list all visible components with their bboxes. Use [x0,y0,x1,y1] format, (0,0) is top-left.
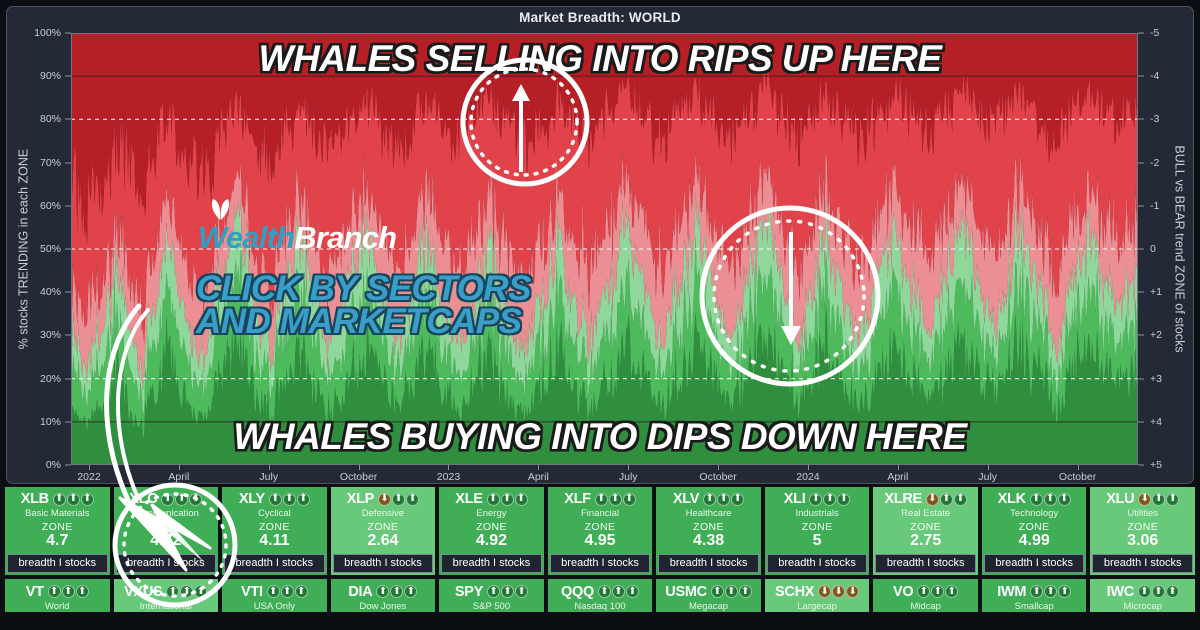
card-marketcap-name: S&P 500 [473,601,510,612]
card-ticker: USMC [665,584,707,600]
arrow-up-icon: ⬆ [48,585,61,598]
ticker-cards: XLB⬆⬆⬆Basic MaterialsZONE4.7breadth I st… [0,487,1200,616]
arrow-up-icon: ⬆ [725,585,738,598]
arrow-up-icon: ⬆ [53,493,66,506]
card-header: XLF⬆⬆⬆ [564,491,636,507]
arrow-up-icon: ⬆ [931,585,944,598]
y-axis-right-tickmark [1138,76,1144,77]
trend-arrows: ⬆⬆⬆ [487,493,528,506]
arrow-down-icon: ⬇ [926,493,939,506]
card-header: XLY⬆⬆⬆ [239,491,310,507]
x-axis-tickmark [448,465,449,470]
card-sector-name: Defensive [362,508,404,519]
sector-card-xly[interactable]: XLY⬆⬆⬆CyclicalZONE4.11breadth I stocks [221,487,328,575]
sector-card-xlb[interactable]: XLB⬆⬆⬆Basic MaterialsZONE4.7breadth I st… [4,487,111,575]
y-axis-right-tick-label: +3 [1150,373,1162,385]
y-axis-left-tick-label: 20% [40,373,61,385]
sector-card-xlc[interactable]: XLC⬆⬆⬆CommunicationZONE4.72breadth I sto… [113,487,220,575]
arrow-up-icon: ⬆ [1058,585,1071,598]
arrow-up-icon: ⬆ [1044,493,1057,506]
card-zone-value: 3.06 [1127,533,1158,550]
x-axis-tick-label: April [168,471,189,483]
card-zone-value: 4.38 [693,533,724,550]
market-breadth-dashboard: Market Breadth: WORLD % stocks TRENDING … [0,0,1200,630]
arrow-up-icon: ⬆ [626,585,639,598]
x-axis-tick-label: July [619,471,638,483]
card-ticker: VXUS [124,584,162,600]
card-zone-value: 4.99 [1019,533,1050,550]
chart-panel: Market Breadth: WORLD % stocks TRENDING … [6,6,1194,484]
x-axis-tickmark [718,465,719,470]
sector-card-xlf[interactable]: XLF⬆⬆⬆FinancialZONE4.95breadth I stocks [547,487,654,575]
card-ticker: XLU [1106,491,1134,507]
card-header: XLI⬆⬆⬆ [784,491,851,507]
card-header: VO⬆⬆⬆ [893,584,958,600]
x-axis-tickmark [808,465,809,470]
marketcap-card-spy[interactable]: SPY⬆⬆⬆S&P 500 [438,579,545,612]
card-ticker: XLB [21,491,49,507]
arrow-up-icon: ⬆ [281,585,294,598]
arrow-up-icon: ⬆ [515,493,528,506]
x-axis: 2022AprilJulyOctober2023AprilJulyOctober… [71,465,1138,484]
arrow-up-icon: ⬆ [609,493,622,506]
y-axis-right-tick-label: +2 [1150,329,1162,341]
arrow-up-icon: ⬆ [81,493,94,506]
card-ticker: IWC [1107,584,1134,600]
trend-arrows: ⬆⬆⬆ [595,493,636,506]
trend-arrows: ⬆⬆⬆ [703,493,744,506]
sector-card-xlre[interactable]: XLRE⬇⬆⬆Real EstateZONE2.75breadth I stoc… [872,487,979,575]
arrow-up-icon: ⬆ [515,585,528,598]
trend-arrows: ⬆⬆⬆ [1138,585,1179,598]
card-marketcap-name: International [140,601,192,612]
arrow-down-icon: ⬇ [832,585,845,598]
x-axis-tick-label: October [340,471,377,483]
arrow-up-icon: ⬆ [598,585,611,598]
card-marketcap-name: Dow Jones [359,601,406,612]
card-zone-value: 4.72 [150,533,181,550]
card-sector-name: Technology [1010,508,1058,519]
card-breadth-stocks-button[interactable]: breadth I stocks [984,554,1085,573]
card-zone-value: 4.11 [259,533,289,550]
card-zone-value: 5 [813,533,822,550]
x-axis-tickmark [538,465,539,470]
sector-card-row: XLB⬆⬆⬆Basic MaterialsZONE4.7breadth I st… [0,487,1200,575]
breadth-area-chart [71,33,1138,465]
x-axis-tickmark [988,465,989,470]
arrow-up-icon: ⬆ [1030,585,1043,598]
x-axis-tick-label: July [978,471,997,483]
card-header: XLE⬆⬆⬆ [455,491,527,507]
marketcap-card-vo[interactable]: VO⬆⬆⬆Midcap [872,579,979,612]
arrow-up-icon: ⬆ [717,493,730,506]
arrow-up-icon: ⬆ [623,493,636,506]
arrow-up-icon: ⬆ [175,493,188,506]
marketcap-card-vxus[interactable]: VXUS⬆⬆⬆International [113,579,220,612]
card-header: IWM⬆⬆⬆ [997,584,1071,600]
trend-arrows: ⬆⬆⬆ [1030,585,1071,598]
arrow-up-icon: ⬆ [1044,585,1057,598]
arrow-up-icon: ⬆ [180,585,193,598]
card-header: SPY⬆⬆⬆ [455,584,528,600]
arrow-up-icon: ⬆ [917,585,930,598]
card-sector-name: Financial [581,508,619,519]
card-sector-name: Utilities [1127,508,1158,519]
card-marketcap-name: Megacap [689,601,728,612]
trend-arrows: ⬆⬆⬆ [53,493,94,506]
card-breadth-stocks-button[interactable]: breadth I stocks [224,554,325,573]
x-axis-tickmark [1078,465,1079,470]
arrow-up-icon: ⬆ [501,493,514,506]
card-marketcap-name: Nasdaq 100 [574,601,625,612]
y-axis-right-tick-label: +4 [1150,416,1162,428]
x-axis-tickmark [359,465,360,470]
arrow-up-icon: ⬆ [283,493,296,506]
arrow-up-icon: ⬆ [1166,493,1179,506]
card-marketcap-name: USA Only [254,601,295,612]
card-header: VXUS⬆⬆⬆ [124,584,207,600]
arrow-up-icon: ⬆ [823,493,836,506]
card-breadth-stocks-button[interactable]: breadth I stocks [550,554,651,573]
arrow-up-icon: ⬆ [487,585,500,598]
arrow-up-icon: ⬆ [1152,585,1165,598]
arrow-up-icon: ⬆ [62,585,75,598]
arrow-up-icon: ⬆ [161,493,174,506]
arrow-up-icon: ⬆ [501,585,514,598]
card-sector-name: Basic Materials [25,508,89,519]
card-marketcap-name: Largecap [797,601,837,612]
sector-card-xlu[interactable]: XLU⬇⬆⬆UtilitiesZONE3.06breadth I stocks [1089,487,1196,575]
card-marketcap-name: Midcap [910,601,941,612]
arrow-up-icon: ⬆ [954,493,967,506]
arrow-up-icon: ⬆ [837,493,850,506]
x-axis-tick-label: October [699,471,736,483]
y-axis-right-tick-label: 0 [1150,243,1156,255]
y-axis-right-tick-label: -5 [1150,27,1159,39]
marketcap-card-dia[interactable]: DIA⬆⬆⬆Dow Jones [330,579,437,612]
x-axis-tick-label: 2022 [77,471,100,483]
card-sector-name: Energy [476,508,506,519]
trend-arrows: ⬆⬆⬆ [48,585,89,598]
y-axis-right-tickmark [1138,465,1144,466]
card-ticker: IWM [997,584,1026,600]
arrow-up-icon: ⬆ [390,585,403,598]
card-header: XLB⬆⬆⬆ [21,491,94,507]
y-axis-right-tickmark [1138,205,1144,206]
card-marketcap-name: Smallcap [1015,601,1054,612]
arrow-up-icon: ⬆ [940,493,953,506]
x-axis-tickmark [628,465,629,470]
card-header: XLRE⬇⬆⬆ [884,491,966,507]
arrow-up-icon: ⬆ [194,585,207,598]
arrow-down-icon: ⬇ [818,585,831,598]
sector-card-xlv[interactable]: XLV⬆⬆⬆HealthcareZONE4.38breadth I stocks [655,487,762,575]
y-axis-right-tick-label: -3 [1150,113,1159,125]
x-axis-tickmark [179,465,180,470]
marketcap-card-schx[interactable]: SCHX⬇⬇⬇Largecap [764,579,871,612]
arrow-up-icon: ⬆ [612,585,625,598]
trend-arrows: ⬇⬆⬆ [1138,493,1179,506]
x-axis-tickmark [898,465,899,470]
y-axis-left-tick-label: 30% [40,329,61,341]
y-axis-left-tick-label: 40% [40,286,61,298]
card-marketcap-name: World [45,601,70,612]
card-breadth-stocks-button[interactable]: breadth I stocks [1092,554,1193,573]
card-ticker: QQQ [561,584,594,600]
card-header: VT⬆⬆⬆ [26,584,89,600]
card-breadth-stocks-button[interactable]: breadth I stocks [658,554,759,573]
arrow-up-icon: ⬆ [731,493,744,506]
card-breadth-stocks-button[interactable]: breadth I stocks [116,554,217,573]
card-header: XLP⬇⬆⬆ [347,491,419,507]
marketcap-card-iwc[interactable]: IWC⬆⬆⬆Microcap [1089,579,1196,612]
x-axis-tickmark [89,465,90,470]
arrow-up-icon: ⬆ [1138,585,1151,598]
x-axis-tick-label: July [259,471,278,483]
y-axis-right-tick-label: -2 [1150,157,1159,169]
trend-arrows: ⬆⬆⬆ [376,585,417,598]
trend-arrows: ⬇⬆⬆ [378,493,419,506]
card-zone-value: 4.7 [46,533,68,550]
plot-area [71,33,1138,465]
trend-arrows: ⬆⬆⬆ [166,585,207,598]
y-axis-left-tick-label: 60% [40,200,61,212]
arrow-up-icon: ⬆ [189,493,202,506]
x-axis-tick-label: 2023 [437,471,460,483]
card-ticker: XLE [455,491,482,507]
sector-card-xlk[interactable]: XLK⬆⬆⬆TechnologyZONE4.99breadth I stocks [981,487,1088,575]
card-header: XLC⬆⬆⬆ [129,491,202,507]
arrow-up-icon: ⬆ [945,585,958,598]
card-ticker: XLK [998,491,1026,507]
arrow-up-icon: ⬆ [376,585,389,598]
card-ticker: XLV [673,491,699,507]
marketcap-card-qqq[interactable]: QQQ⬆⬆⬆Nasdaq 100 [547,579,654,612]
chart-title: Market Breadth: WORLD [7,10,1193,25]
trend-arrows: ⬆⬆⬆ [161,493,202,506]
y-axis-right-tick-label: -4 [1150,70,1159,82]
trend-arrows: ⬆⬆⬆ [711,585,752,598]
x-axis-tick-label: April [887,471,908,483]
y-axis-left-tick-label: 10% [40,416,61,428]
card-ticker: XLRE [884,491,921,507]
card-ticker: DIA [348,584,372,600]
x-axis-tick-label: 2024 [796,471,819,483]
y-axis-right-tickmark [1138,378,1144,379]
y-axis-right-tickmark [1138,119,1144,120]
y-axis-right-tickmark [1138,421,1144,422]
y-axis-right-label: BULL vs BEAR trend ZONE of stocks [1170,33,1190,465]
card-zone-value: 4.92 [476,533,507,550]
card-sector-name: Cyclical [258,508,291,519]
card-marketcap-name: Microcap [1123,601,1162,612]
marketcap-card-row: VT⬆⬆⬆WorldVXUS⬆⬆⬆InternationalVTI⬆⬆⬆USA … [0,579,1200,612]
card-ticker: VT [26,584,44,600]
card-header: IWC⬆⬆⬆ [1107,584,1179,600]
arrow-up-icon: ⬆ [487,493,500,506]
card-header: XLK⬆⬆⬆ [998,491,1071,507]
card-ticker: XLY [239,491,265,507]
y-axis-right-tick-label: +1 [1150,286,1162,298]
trend-arrows: ⬆⬆⬆ [1030,493,1071,506]
arrow-up-icon: ⬆ [406,493,419,506]
arrow-up-icon: ⬆ [295,585,308,598]
sector-card-xle[interactable]: XLE⬆⬆⬆EnergyZONE4.92breadth I stocks [438,487,545,575]
card-breadth-stocks-button[interactable]: breadth I stocks [333,554,434,573]
trend-arrows: ⬆⬆⬆ [269,493,310,506]
marketcap-card-vt[interactable]: VT⬆⬆⬆World [4,579,111,612]
trend-arrows: ⬆⬆⬆ [917,585,958,598]
arrow-up-icon: ⬆ [703,493,716,506]
arrow-up-icon: ⬆ [297,493,310,506]
x-axis-tickmark [269,465,270,470]
card-zone-value: 4.95 [584,533,615,550]
y-axis-left-tick-label: 100% [34,27,61,39]
arrow-down-icon: ⬇ [846,585,859,598]
y-axis-left-tick-label: 70% [40,157,61,169]
card-ticker: VO [893,584,913,600]
arrow-up-icon: ⬆ [76,585,89,598]
card-header: USMC⬆⬆⬆ [665,584,752,600]
card-sector-name: Real Estate [901,508,950,519]
trend-arrows: ⬇⬇⬇ [818,585,859,598]
y-axis-right-tick-label: -1 [1150,200,1159,212]
y-axis-left-tick-label: 90% [40,70,61,82]
card-ticker: SCHX [775,584,814,600]
card-header: VTI⬆⬆⬆ [241,584,308,600]
card-sector-name: Industrials [795,508,838,519]
arrow-up-icon: ⬆ [1166,585,1179,598]
arrow-up-icon: ⬆ [404,585,417,598]
card-sector-name: Communication [133,508,199,519]
x-axis-tick-label: October [1059,471,1096,483]
arrow-up-icon: ⬆ [67,493,80,506]
y-axis-left-tick-label: 80% [40,113,61,125]
y-axis-left-tick-label: 50% [40,243,61,255]
x-axis-tick-label: April [528,471,549,483]
y-axis-left: 0%10%20%30%40%50%60%70%80%90%100% [7,33,71,465]
card-ticker: XLF [564,491,591,507]
trend-arrows: ⬆⬆⬆ [809,493,850,506]
card-ticker: SPY [455,584,483,600]
sector-card-xlp[interactable]: XLP⬇⬆⬆DefensiveZONE2.64breadth I stocks [330,487,437,575]
arrow-up-icon: ⬆ [739,585,752,598]
arrow-down-icon: ⬇ [378,493,391,506]
y-axis-right-tickmark [1138,335,1144,336]
y-axis-right-tick-label: +5 [1150,459,1162,471]
card-breadth-stocks-button[interactable]: breadth I stocks [441,554,542,573]
arrow-up-icon: ⬆ [392,493,405,506]
marketcap-card-vti[interactable]: VTI⬆⬆⬆USA Only [221,579,328,612]
y-axis-right-tickmark [1138,292,1144,293]
arrow-up-icon: ⬆ [267,585,280,598]
card-ticker: XLI [784,491,806,507]
arrow-up-icon: ⬆ [1058,493,1071,506]
trend-arrows: ⬇⬆⬆ [926,493,967,506]
card-header: XLV⬆⬆⬆ [673,491,744,507]
y-axis-left-tick-label: 0% [46,459,61,471]
arrow-down-icon: ⬇ [1138,493,1151,506]
arrow-up-icon: ⬆ [595,493,608,506]
marketcap-card-iwm[interactable]: IWM⬆⬆⬆Smallcap [981,579,1088,612]
card-zone-value: 2.64 [367,533,398,550]
card-sector-name: Healthcare [686,508,732,519]
y-axis-right-tickmark [1138,249,1144,250]
card-zone-value: 2.75 [910,533,941,550]
y-axis-right-tickmark [1138,33,1144,34]
trend-arrows: ⬆⬆⬆ [598,585,639,598]
card-header: XLU⬇⬆⬆ [1106,491,1179,507]
arrow-up-icon: ⬆ [269,493,282,506]
y-axis-right-label-text: BULL vs BEAR trend ZONE of stocks [1173,145,1187,352]
marketcap-card-usmc[interactable]: USMC⬆⬆⬆Megacap [655,579,762,612]
arrow-up-icon: ⬆ [1152,493,1165,506]
card-ticker: XLP [347,491,374,507]
sector-card-xli[interactable]: XLI⬆⬆⬆IndustrialsZONE5breadth I stocks [764,487,871,575]
trend-arrows: ⬆⬆⬆ [267,585,308,598]
card-ticker: VTI [241,584,263,600]
card-breadth-stocks-button[interactable]: breadth I stocks [7,554,108,573]
card-header: SCHX⬇⬇⬇ [775,584,859,600]
card-breadth-stocks-button[interactable]: breadth I stocks [767,554,868,573]
card-header: QQQ⬆⬆⬆ [561,584,639,600]
card-header: DIA⬆⬆⬆ [348,584,417,600]
trend-arrows: ⬆⬆⬆ [487,585,528,598]
arrow-up-icon: ⬆ [711,585,724,598]
y-axis-right-tickmark [1138,162,1144,163]
arrow-up-icon: ⬆ [1030,493,1043,506]
card-ticker: XLC [129,491,157,507]
arrow-up-icon: ⬆ [166,585,179,598]
arrow-up-icon: ⬆ [809,493,822,506]
card-breadth-stocks-button[interactable]: breadth I stocks [875,554,976,573]
